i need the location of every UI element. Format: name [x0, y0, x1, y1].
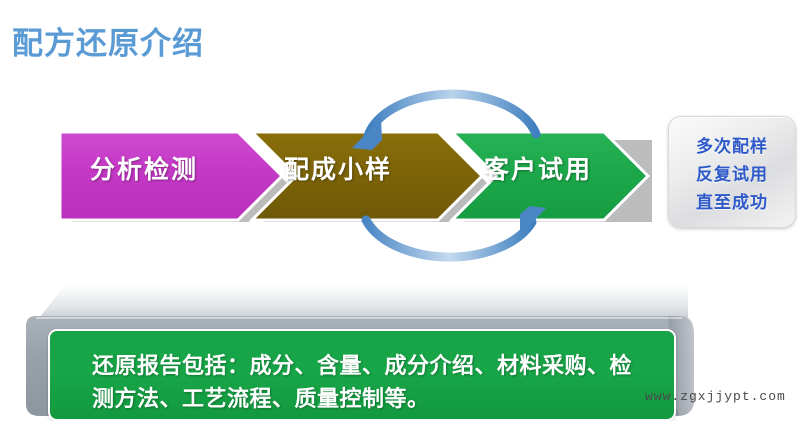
note-line-3: 直至成功 — [696, 188, 768, 213]
note-line-2: 反复试用 — [696, 160, 768, 185]
chevron-step-1[interactable] — [60, 132, 282, 220]
chevron-step-2[interactable] — [252, 132, 482, 220]
process-flow: 分析检测 配成小样 客户试用 — [52, 126, 652, 222]
slide-canvas: 配方还原介绍 — [0, 0, 800, 416]
chevron-group — [52, 126, 652, 222]
page-title: 配方还原介绍 — [12, 18, 204, 63]
report-panel-body: 还原报告包括：成分、含量、成分介绍、材料采购、检测方法、工艺流程、质量控制等。 — [48, 329, 676, 421]
report-panel: 还原报告包括：成分、含量、成分介绍、材料采购、检测方法、工艺流程、质量控制等。 — [22, 282, 694, 416]
note-line-1: 多次配样 — [696, 132, 768, 157]
report-panel-text: 还原报告包括：成分、含量、成分介绍、材料采购、检测方法、工艺流程、质量控制等。 — [92, 349, 652, 415]
note-box[interactable]: 多次配样 反复试用 直至成功 — [668, 116, 796, 228]
watermark: www.zgxjjypt.com — [645, 389, 786, 404]
cycle-arrow-bottom — [366, 220, 532, 257]
